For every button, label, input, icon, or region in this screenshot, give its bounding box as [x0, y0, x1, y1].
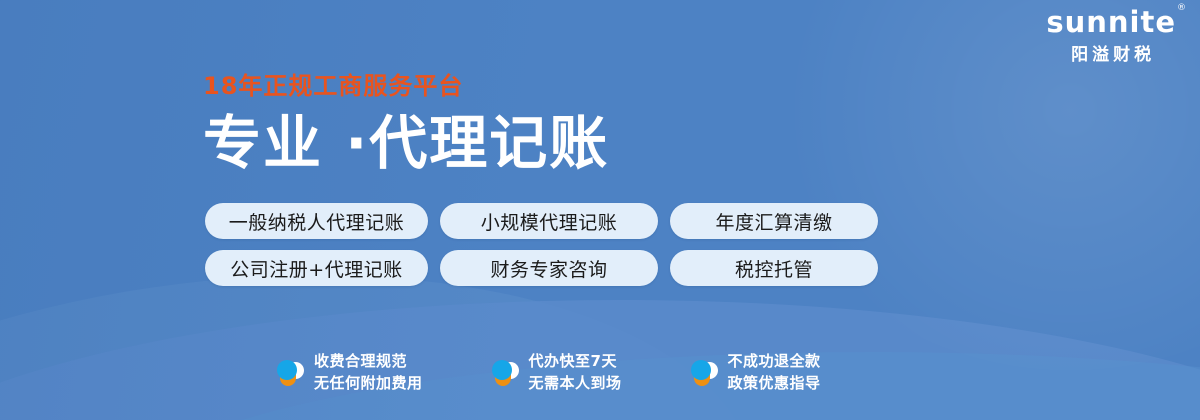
feature-text-pricing: 收费合理规范 无任何附加费用 — [314, 351, 423, 395]
logo-chinese-name: 阳溢财税 — [1046, 46, 1176, 63]
feature-line-1: 不成功退全款 — [728, 351, 821, 373]
dot-shape — [277, 360, 297, 380]
feature-item-pricing: 收费合理规范 无任何附加费用 — [276, 351, 423, 395]
service-pill-grid: 一般纳税人代理记账 小规模代理记账 年度汇算清缴 公司注册+代理记账 财务专家咨… — [205, 203, 878, 286]
feature-line-1: 代办快至7天 — [529, 351, 622, 373]
half-moon-cup-icon — [690, 358, 718, 388]
half-moon-cup-icon — [491, 358, 519, 388]
page-title: 专业 ·代理记账 — [203, 114, 609, 172]
feature-line-2: 无任何附加费用 — [314, 373, 423, 395]
dot-shape — [492, 360, 512, 380]
service-pill-financial-consulting[interactable]: 财务专家咨询 — [440, 250, 658, 286]
headline-eyebrow: 18年正规工商服务平台 — [203, 74, 609, 98]
registered-trademark-icon: ® — [1177, 4, 1187, 13]
headline-block: 18年正规工商服务平台 专业 ·代理记账 — [203, 74, 609, 172]
service-pill-annual-settlement[interactable]: 年度汇算清缴 — [670, 203, 878, 239]
feature-strip: 收费合理规范 无任何附加费用 代办快至7天 无需本人到场 不成功退全款 — [276, 351, 821, 395]
feature-text-guarantee: 不成功退全款 政策优惠指导 — [728, 351, 821, 395]
feature-item-speed: 代办快至7天 无需本人到场 — [491, 351, 622, 395]
feature-line-2: 政策优惠指导 — [728, 373, 821, 395]
feature-line-2: 无需本人到场 — [529, 373, 622, 395]
service-pill-company-registration[interactable]: 公司注册+代理记账 — [205, 250, 428, 286]
service-pill-small-scale[interactable]: 小规模代理记账 — [440, 203, 658, 239]
dot-shape — [691, 360, 711, 380]
service-pill-general-taxpayer[interactable]: 一般纳税人代理记账 — [205, 203, 428, 239]
feature-line-1: 收费合理规范 — [314, 351, 423, 373]
brand-logo[interactable]: sunnite ® 阳溢财税 — [1046, 8, 1176, 63]
logo-wordmark: sunnite ® — [1046, 8, 1176, 37]
service-pill-tax-control-hosting[interactable]: 税控托管 — [670, 250, 878, 286]
feature-item-guarantee: 不成功退全款 政策优惠指导 — [690, 351, 821, 395]
half-moon-cup-icon — [276, 358, 304, 388]
logo-wordmark-text: sunnite — [1046, 5, 1176, 39]
feature-text-speed: 代办快至7天 无需本人到场 — [529, 351, 622, 395]
promo-banner: sunnite ® 阳溢财税 18年正规工商服务平台 专业 ·代理记账 一般纳税… — [0, 0, 1200, 420]
